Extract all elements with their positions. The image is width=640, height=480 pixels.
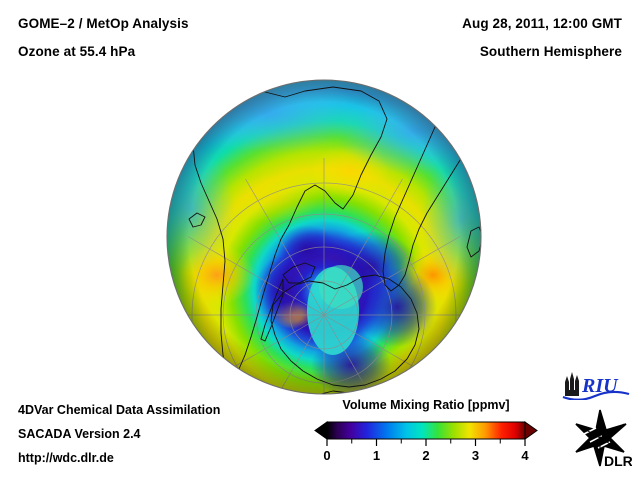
riu-logo: RIU [561, 370, 631, 400]
colorbar-gradient [327, 422, 525, 439]
colorbar-tick-label: 1 [373, 448, 380, 463]
colorbar-title: Volume Mixing Ratio [ppmv] [306, 398, 546, 412]
colorbar-tick-label: 4 [521, 448, 528, 463]
hemisphere-label: Southern Hemisphere [480, 44, 622, 59]
ozone-analysis-figure: GOME–2 / MetOp Analysis Ozone at 55.4 hP… [0, 0, 640, 480]
footer-line-method: 4DVar Chemical Data Assimilation [18, 403, 220, 417]
colorbar-tick-label: 0 [323, 448, 330, 463]
riu-tower-icon [565, 372, 579, 396]
colorbar-tick-label: 3 [472, 448, 479, 463]
colorbar-under-arrow [315, 422, 327, 439]
dlr-wordmark: DLR [604, 453, 632, 469]
colorbar-ticks [327, 439, 525, 446]
page-subtitle: Ozone at 55.4 hPa [18, 44, 135, 59]
timestamp-label: Aug 28, 2011, 12:00 GMT [462, 16, 622, 31]
footer-line-url[interactable]: http://wdc.dlr.de [18, 451, 114, 465]
footer-line-version: SACADA Version 2.4 [18, 427, 141, 441]
page-title: GOME–2 / MetOp Analysis [18, 16, 189, 31]
colorbar: Volume Mixing Ratio [ppmv] 01234 [306, 398, 546, 474]
colorbar-scale [306, 418, 546, 448]
dlr-logo: DLR [570, 408, 632, 470]
colorbar-tick-label: 2 [422, 448, 429, 463]
orthographic-projection [165, 79, 483, 396]
globe-map [165, 79, 483, 396]
colorbar-over-arrow [525, 422, 537, 439]
